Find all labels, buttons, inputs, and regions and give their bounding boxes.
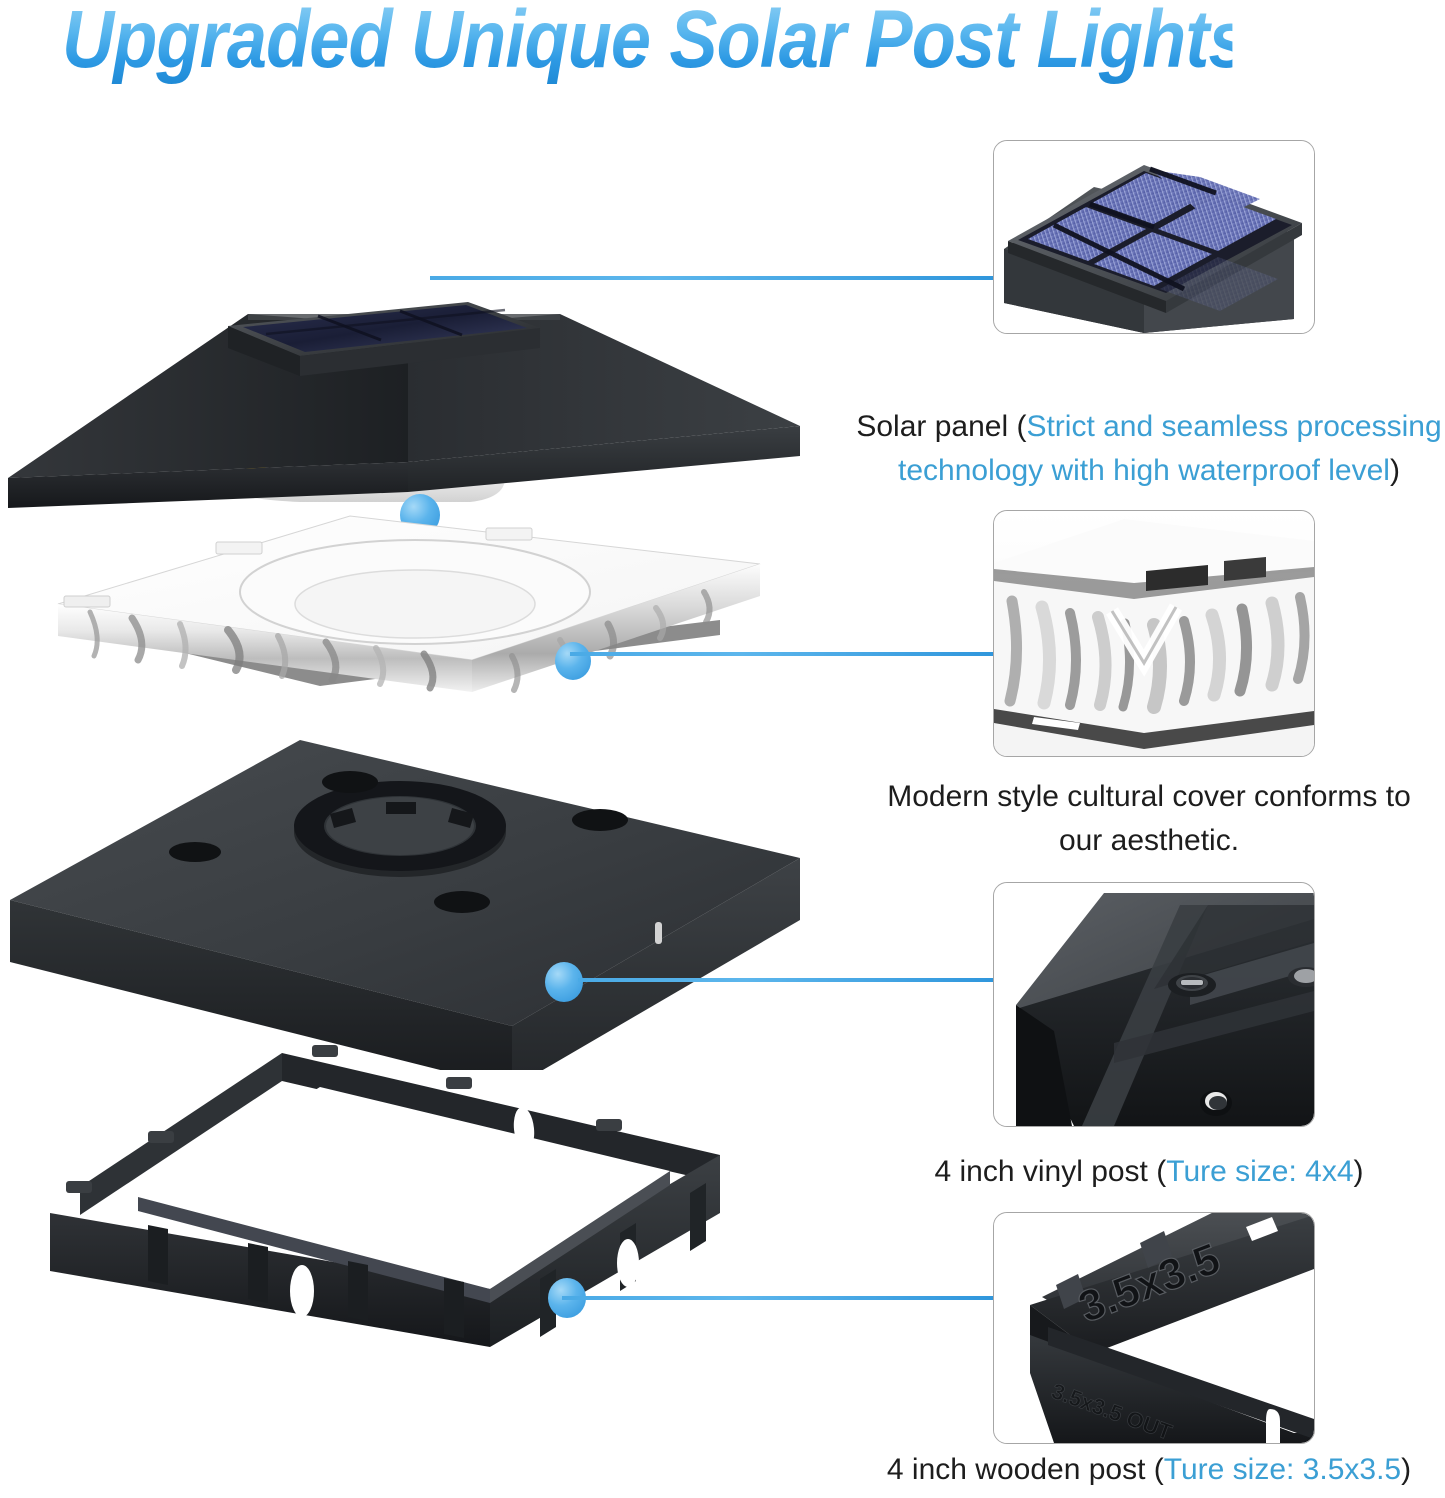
callout-marker-dot-3 [545, 962, 583, 1002]
callout-leader-line-1 [430, 276, 995, 280]
product-infographic: Upgraded Unique Solar Post Lights [0, 0, 1445, 1498]
caption-text-black: ) [1401, 1453, 1411, 1486]
exploded-part-lamp-cap [0, 230, 820, 520]
caption-line: our aesthetic. [853, 819, 1445, 863]
exploded-part-base-plate [0, 730, 820, 1070]
glass-cover-closeup-thumbnail [994, 511, 1314, 756]
page-title: Upgraded Unique Solar Post Lights [62, 0, 1232, 84]
exploded-part-glass-cover [20, 500, 800, 730]
adapter-ring-emboss-closeup-illustration: 3.5x3.5 3.5x3.5 OUT [994, 1213, 1314, 1443]
adapter-ring-emboss-closeup-thumbnail: 3.5x3.5 3.5x3.5 OUT [994, 1213, 1314, 1443]
caption-wooden-post: 4 inch wooden post (Ture size: 3.5x3.5) [853, 1448, 1445, 1492]
glass-cover-closeup-illustration [994, 511, 1314, 756]
callout-leader-line-3 [578, 978, 995, 982]
caption-text-blue: Ture size: 4x4 [1166, 1155, 1353, 1188]
base-plate-illustration [0, 730, 820, 1070]
callout-box-wooden-post: 3.5x3.5 3.5x3.5 OUT [993, 1212, 1315, 1444]
caption-text-black: 4 inch wooden post ( [887, 1453, 1164, 1486]
caption-text-black: Solar panel ( [856, 410, 1026, 443]
caption-line: 4 inch vinyl post (Ture size: 4x4) [853, 1150, 1445, 1194]
callout-box-cultural-cover [993, 510, 1315, 757]
caption-vinyl-post: 4 inch vinyl post (Ture size: 4x4) [853, 1150, 1445, 1194]
caption-text-black: ) [1354, 1155, 1364, 1188]
caption-cultural-cover: Modern style cultural cover conforms to … [853, 775, 1445, 863]
callout-leader-line-2 [570, 652, 995, 656]
caption-solar-panel: Solar panel (Strict and seamless process… [853, 405, 1445, 493]
callout-marker-dot-2 [555, 642, 591, 680]
adapter-ring-illustration [20, 1035, 810, 1415]
callout-leader-line-4 [562, 1296, 995, 1300]
caption-text-blue: technology with high waterproof level [898, 454, 1390, 487]
caption-text-black: ) [1390, 454, 1400, 487]
glass-cover-illustration [20, 500, 800, 730]
caption-line: 4 inch wooden post (Ture size: 3.5x3.5) [853, 1448, 1445, 1492]
callout-box-solar-panel [993, 140, 1315, 334]
exploded-part-adapter-ring [20, 1035, 810, 1415]
base-plate-underside-closeup-thumbnail [994, 883, 1314, 1126]
callout-box-vinyl-post [993, 882, 1315, 1127]
caption-line: technology with high waterproof level) [853, 449, 1445, 493]
caption-text-blue: Strict and seamless processing [1026, 410, 1441, 443]
lamp-cap-illustration [0, 230, 820, 520]
base-plate-underside-closeup-illustration [994, 883, 1314, 1126]
caption-line: Modern style cultural cover conforms to [853, 775, 1445, 819]
caption-line: Solar panel (Strict and seamless process… [853, 405, 1445, 449]
solar-panel-closeup-illustration [994, 141, 1314, 333]
solar-panel-closeup-thumbnail [994, 141, 1314, 333]
caption-text-black: 4 inch vinyl post ( [934, 1155, 1166, 1188]
caption-text-blue: Ture size: 3.5x3.5 [1164, 1453, 1401, 1486]
